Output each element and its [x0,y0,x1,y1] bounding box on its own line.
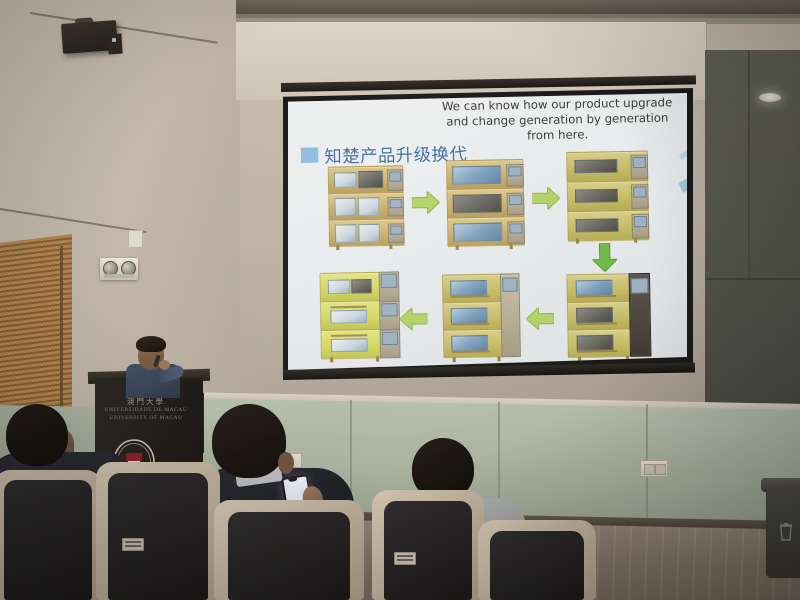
speaker-mount-arm [107,34,122,55]
presentation-slide: 知楚产品升级换代 We can know how our product upg… [288,93,687,370]
emergency-light-icon [100,258,138,280]
emergency-light-label-strip [104,274,134,278]
arrow-down [592,243,617,272]
chair-back-5 [478,520,596,600]
right-wall-seam-horizontal [705,278,800,280]
podium-name-en: UNIVERSITY OF MACAU [98,415,194,421]
machine-gen-2 [446,159,523,246]
speaker-led [112,38,116,42]
right-wall-seam-vertical [748,50,750,278]
machine-gen-6 [319,271,400,358]
arrow-right-1 [412,191,440,214]
chair-back-3 [214,500,364,600]
attendee-2-head [212,404,286,478]
chair-back-2 [96,462,220,600]
podium-name-pt: UNIVERSIDADE DE MACAU [98,407,194,413]
projection-screen: 知楚产品升级换代 We can know how our product upg… [288,93,687,370]
arrow-left-1 [526,307,554,330]
arrow-right-2 [532,187,560,210]
chair-tag-2 [394,552,416,565]
downlight-icon [759,93,781,102]
right-green-wall [705,50,800,440]
presenter-hand [159,360,170,370]
light-switch-plate[interactable] [128,230,143,248]
lecture-hall-photo: 知楚产品升级换代 We can know how our product upg… [0,0,800,600]
wall-outlet-icon[interactable] [640,460,668,477]
chair-back-1 [0,470,102,600]
attendee-1-head [6,404,68,466]
machine-gen-3 [566,151,647,240]
waste-bin-symbol [778,520,794,542]
product-evolution-diagram [288,93,687,370]
machine-gen-1 [328,165,403,246]
arrow-left-2 [400,308,428,331]
chair-tag-1 [122,538,144,551]
presenter-hair [136,336,166,352]
chair-back-4 [372,490,484,600]
machine-gen-4 [566,273,651,358]
attendee-2-ear [278,452,294,474]
machine-gen-5 [442,273,521,358]
